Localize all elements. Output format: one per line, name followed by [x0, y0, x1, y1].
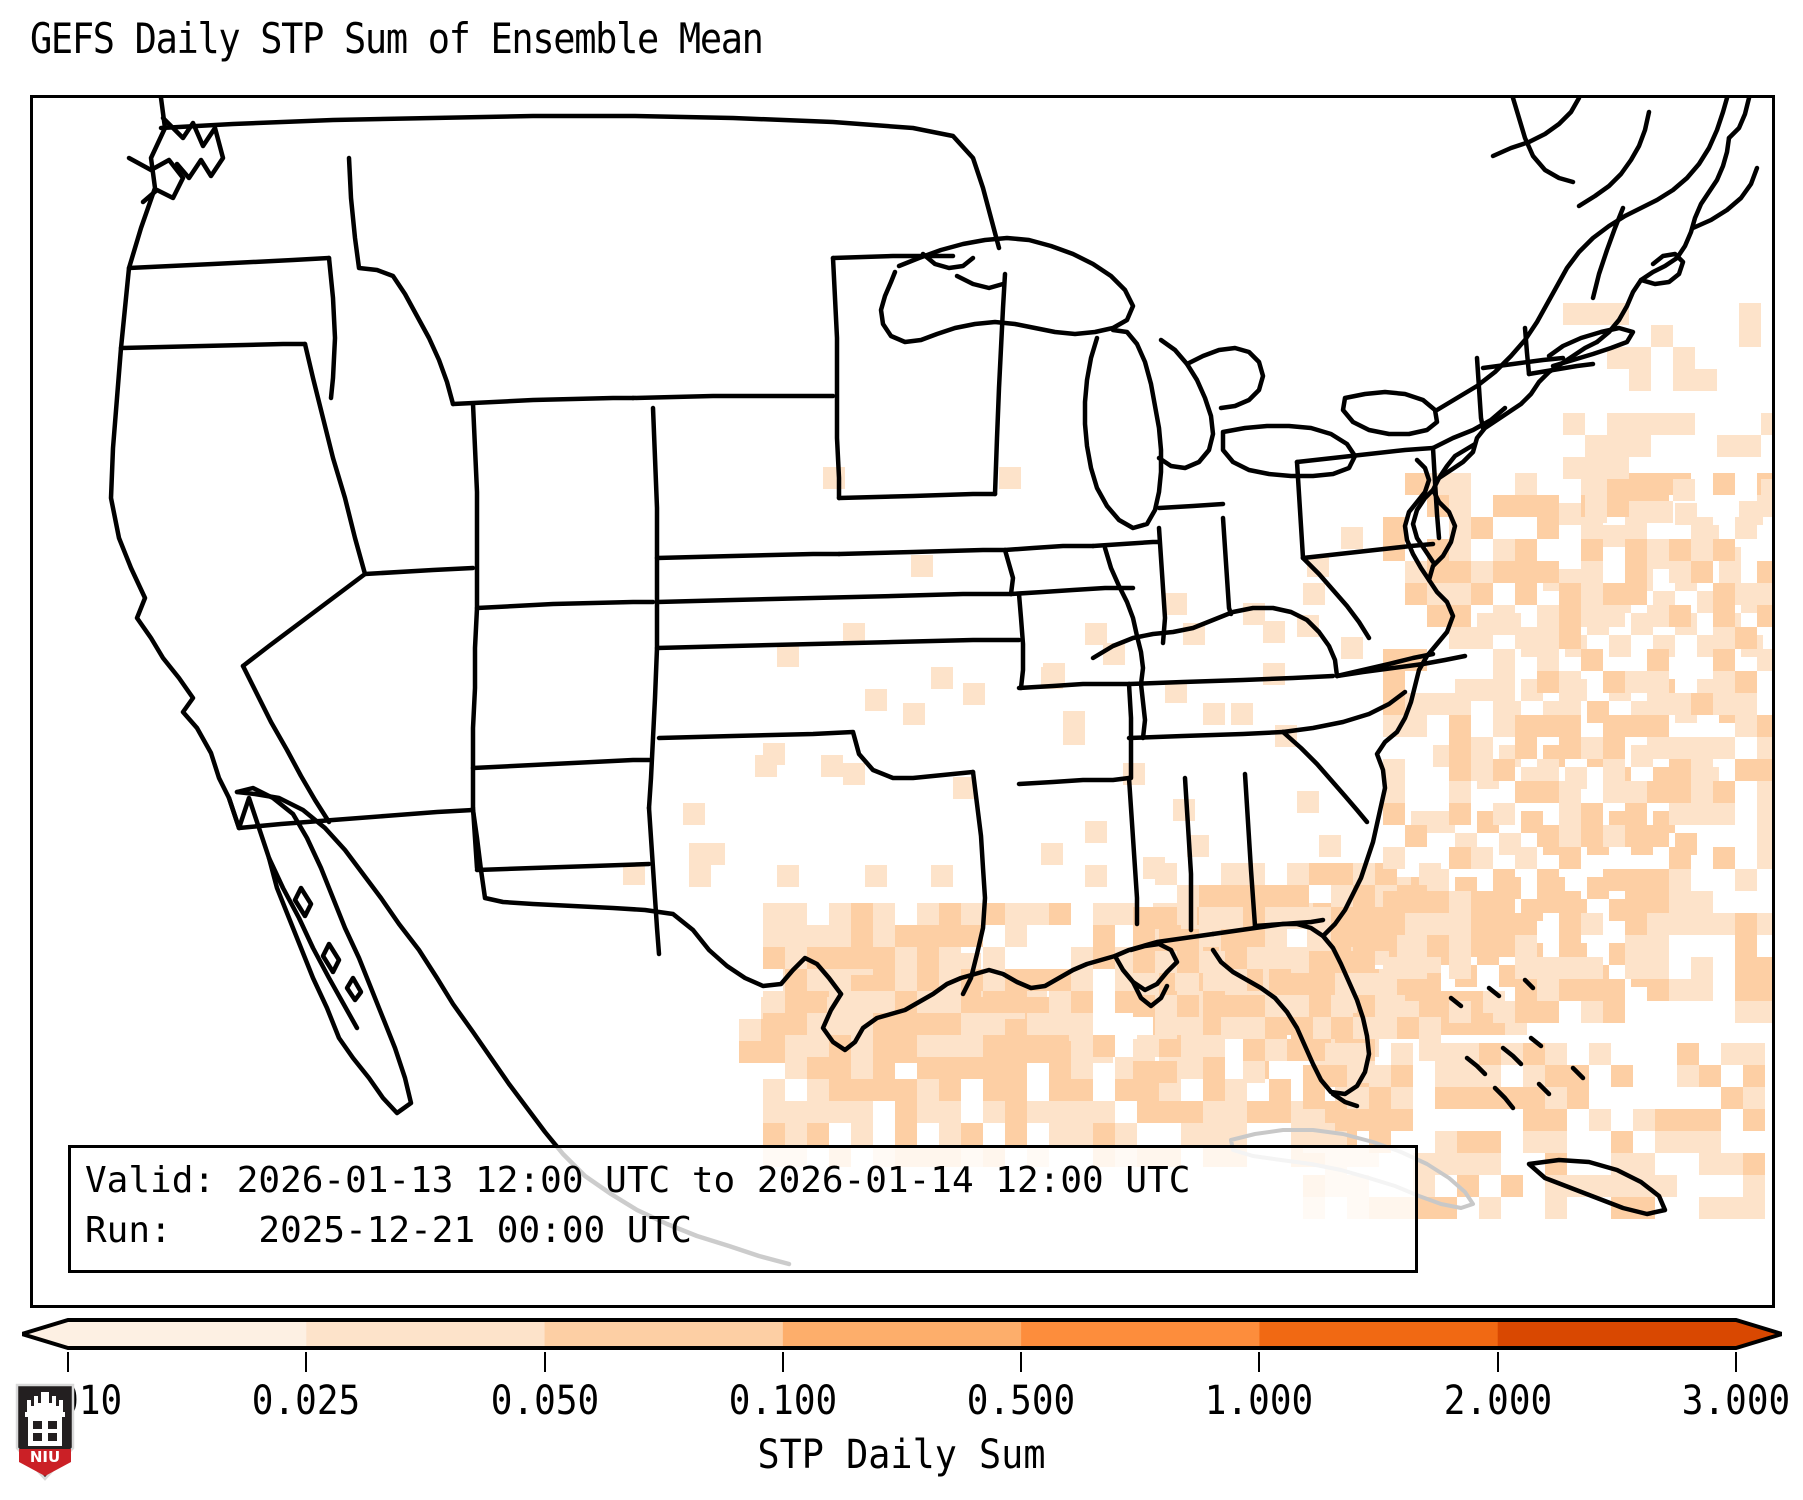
map-panel	[30, 95, 1775, 1308]
colorbar-tick	[1735, 1352, 1737, 1372]
page-title: GEFS Daily STP Sum of Ensemble Mean	[30, 14, 763, 63]
colorbar-tick-label: 0.500	[967, 1378, 1075, 1424]
valid-time-text: Valid: 2026-01-13 12:00 UTC to 2026-01-1…	[85, 1160, 1190, 1201]
colorbar-band	[783, 1320, 1022, 1348]
niu-logo-text: NIU	[30, 1448, 60, 1466]
colorbar-tick	[1497, 1352, 1499, 1372]
colorbar-tick	[1020, 1352, 1022, 1372]
colorbar-tick	[305, 1352, 307, 1372]
colorbar-extend-max	[1736, 1320, 1782, 1348]
colorbar-tick	[67, 1352, 69, 1372]
colorbar-band	[1498, 1320, 1737, 1348]
coastline-state-borders-svg	[33, 98, 1772, 1305]
colorbar-band	[1021, 1320, 1260, 1348]
colorbar-band	[545, 1320, 784, 1348]
niu-logo: NIU	[14, 1382, 76, 1482]
colorbar-ticks	[0, 1352, 1803, 1376]
colorbar-tick	[1258, 1352, 1260, 1372]
colorbar-band	[1259, 1320, 1498, 1348]
colorbar-tick-label: 0.100	[729, 1378, 837, 1424]
geography-layer	[33, 98, 1772, 1305]
info-box: Valid: 2026-01-13 12:00 UTC to 2026-01-1…	[68, 1145, 1418, 1273]
colorbar-band	[306, 1320, 545, 1348]
colorbar-band	[68, 1320, 307, 1348]
colorbar-axis-label: STP Daily Sum	[72, 1432, 1731, 1478]
run-time-text: Run: 2025-12-21 00:00 UTC	[85, 1210, 692, 1251]
colorbar-extend-min	[22, 1320, 68, 1348]
colorbar-tick-label: 0.050	[490, 1378, 598, 1424]
colorbar-tick-labels: 0.0100.0250.0500.1000.5001.0002.0003.000	[0, 1378, 1803, 1428]
niu-shield-icon: NIU	[14, 1382, 76, 1482]
colorbar-tick	[544, 1352, 546, 1372]
map-canvas	[33, 98, 1772, 1305]
colorbar-tick-label: 0.025	[252, 1378, 360, 1424]
colorbar-tick	[782, 1352, 784, 1372]
colorbar-tick-label: 2.000	[1444, 1378, 1552, 1424]
colorbar-tick-label: 3.000	[1682, 1378, 1790, 1424]
colorbar-tick-label: 1.000	[1205, 1378, 1313, 1424]
